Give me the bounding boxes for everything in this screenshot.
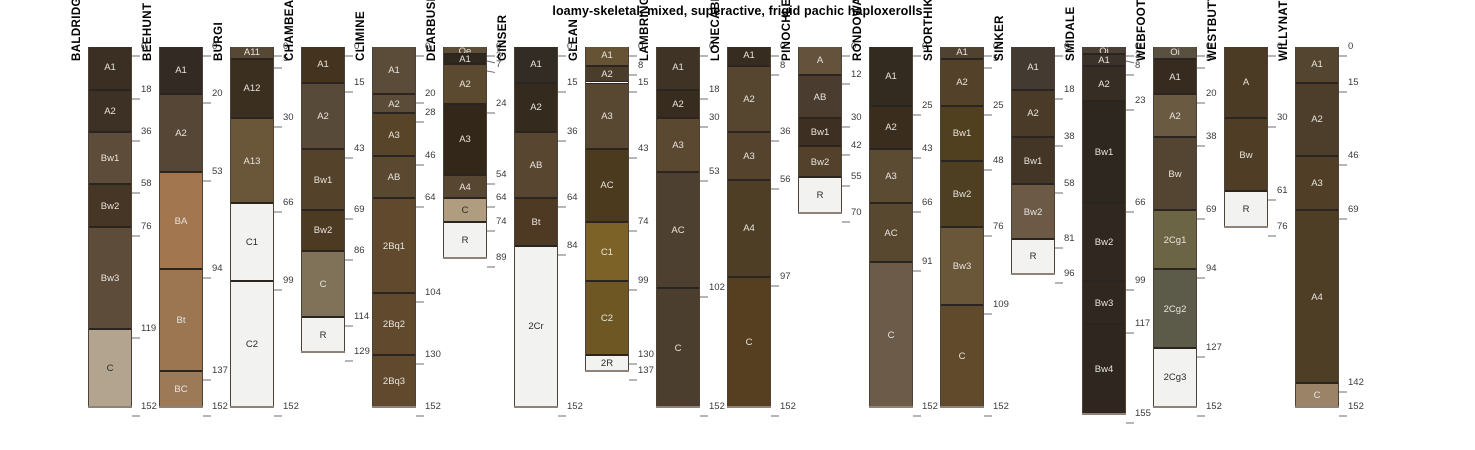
depth-tick-leader — [1055, 88, 1064, 92]
depth-tick-leader — [274, 116, 283, 120]
depth-tick-label: 102 — [709, 283, 725, 293]
profile-base-line — [514, 406, 558, 408]
depth-tick-leader — [1339, 208, 1348, 212]
soil-horizon: Bw2 — [1083, 203, 1125, 281]
depth-tick-label: 0 — [1348, 42, 1353, 52]
soil-horizon: A12 — [231, 59, 273, 118]
profile-base-line — [88, 406, 132, 408]
horizon-label: A1 — [444, 55, 486, 63]
soil-horizon: C1 — [586, 222, 628, 281]
depth-tick-leader — [629, 220, 638, 224]
depth-tick-leader — [132, 182, 141, 186]
horizon-label: A3 — [444, 135, 486, 145]
depth-tick-leader — [629, 353, 638, 357]
depth-tick-leader — [416, 405, 425, 409]
soil-horizon: Bw1 — [302, 149, 344, 211]
horizon-label: R — [302, 331, 344, 341]
horizon-label: A1 — [1012, 63, 1054, 73]
profile-name-label: SINKER — [994, 15, 1006, 61]
depth-tick-label: 25 — [993, 101, 1004, 111]
depth-tick-leader — [487, 256, 496, 260]
depth-tick-leader — [345, 315, 354, 319]
horizon-label: AB — [373, 173, 415, 183]
horizon-label: Bw2 — [1083, 238, 1125, 248]
horizon-label: A1 — [941, 48, 983, 58]
depth-tick-leader — [629, 279, 638, 283]
depth-tick-label: 89 — [496, 253, 507, 263]
depth-tick-leader — [558, 45, 567, 49]
soil-horizon: A3 — [657, 118, 699, 172]
depth-tick-leader — [1126, 322, 1135, 326]
profile-name-label: GINSER — [497, 15, 509, 62]
soil-horizon: Oi — [1154, 47, 1196, 59]
depth-tick-leader — [629, 369, 638, 373]
soil-horizon: A4 — [1296, 210, 1338, 383]
horizon-label: 2Bq3 — [373, 377, 415, 387]
profile-name-label: LAMBRING — [639, 0, 651, 61]
profile-base-line — [798, 212, 842, 214]
depth-tick-leader — [274, 405, 283, 409]
depth-tick-leader — [345, 81, 354, 85]
depth-tick-label: 25 — [922, 101, 933, 111]
depth-tick-label: 91 — [922, 257, 933, 267]
soil-horizon: A2 — [657, 90, 699, 118]
soil-horizon: A2 — [373, 94, 415, 113]
horizon-label: AC — [586, 181, 628, 191]
depth-tick-leader — [487, 52, 496, 58]
depth-tick-leader — [1055, 45, 1064, 49]
depth-tick-label: 76 — [993, 222, 1004, 232]
profile-base-line — [1153, 406, 1197, 408]
depth-tick-leader — [132, 327, 141, 331]
soil-horizon: Bw4 — [1083, 324, 1125, 414]
soil-horizon: A1 — [1296, 47, 1338, 83]
horizon-label: Bw3 — [941, 262, 983, 272]
depth-tick-leader — [1268, 116, 1277, 120]
depth-tick-leader — [1055, 182, 1064, 186]
depth-tick-leader — [1126, 64, 1135, 68]
soil-horizon: A1 — [515, 47, 557, 83]
depth-tick-label: 99 — [1135, 276, 1146, 286]
soil-horizon: A2 — [941, 59, 983, 106]
horizon-label: A3 — [373, 131, 415, 141]
depth-tick-leader — [913, 45, 922, 49]
soil-horizon: A1 — [1083, 54, 1125, 66]
depth-tick-leader — [558, 244, 567, 248]
profile-column: A1A2Bw1Bw2Bw3C — [940, 47, 984, 407]
soil-horizon: R — [799, 177, 841, 213]
horizon-label: C — [89, 364, 131, 374]
horizon-label: A3 — [586, 112, 628, 122]
soil-horizon: A1 — [1012, 47, 1054, 90]
depth-tick-leader — [274, 57, 283, 61]
horizon-label: A1 — [89, 63, 131, 73]
depth-tick-leader — [345, 350, 354, 354]
soil-horizon: Oi — [1083, 47, 1125, 54]
profile-column: A1A2BABtBC — [159, 47, 203, 407]
depth-tick-leader — [345, 249, 354, 253]
profile-name-label: LONECABIN — [710, 0, 722, 61]
soil-horizon: BA — [160, 172, 202, 269]
soil-horizon: Bw1 — [1083, 101, 1125, 203]
depth-tick-leader — [487, 62, 496, 67]
horizon-label: R — [444, 236, 486, 246]
depth-tick-label: 130 — [425, 350, 441, 360]
horizon-label: A1 — [373, 66, 415, 76]
depth-tick-label: 30 — [851, 113, 862, 123]
depth-tick-label: 152 — [212, 402, 228, 412]
depth-tick-leader — [700, 170, 709, 174]
profile-base-line — [869, 406, 913, 408]
depth-tick-label: 36 — [780, 127, 791, 137]
depth-tick-label: 36 — [141, 127, 152, 137]
depth-tick-label: 38 — [1206, 132, 1217, 142]
depth-tick-label: 69 — [354, 205, 365, 215]
soil-horizon: C2 — [231, 281, 273, 406]
depth-tick-label: 152 — [993, 402, 1009, 412]
depth-tick-label: 7 — [496, 60, 501, 70]
horizon-label: 2Cg1 — [1154, 236, 1196, 246]
horizon-label: C1 — [231, 238, 273, 248]
soil-horizon: C — [657, 288, 699, 406]
horizon-label: A4 — [1296, 293, 1338, 303]
horizon-label: A1 — [302, 60, 344, 70]
horizon-label: A3 — [657, 141, 699, 151]
horizon-label: A2 — [728, 95, 770, 105]
soil-horizon: A1 — [444, 54, 486, 63]
soil-horizon: A2 — [728, 66, 770, 132]
depth-tick-leader — [1055, 237, 1064, 241]
depth-tick-leader — [416, 291, 425, 295]
depth-tick-leader — [913, 104, 922, 108]
soil-horizon: C — [89, 329, 131, 407]
horizon-label: Bw2 — [1012, 208, 1054, 218]
depth-tick-label: 127 — [1206, 343, 1222, 353]
horizon-label: C — [444, 206, 486, 216]
depth-tick-label: 28 — [425, 108, 436, 118]
depth-tick-label: 152 — [283, 402, 299, 412]
horizon-label: A2 — [302, 112, 344, 122]
soil-horizon: Bt — [160, 269, 202, 371]
depth-tick-leader — [771, 45, 780, 49]
depth-tick-leader — [1126, 412, 1135, 416]
depth-tick-leader — [132, 45, 141, 49]
depth-tick-leader — [842, 144, 851, 148]
horizon-label: Bw1 — [302, 176, 344, 186]
profile-base-line — [1224, 226, 1268, 228]
profile-base-line — [1082, 413, 1126, 415]
depth-tick-label: 142 — [1348, 378, 1364, 388]
depth-tick-label: 64 — [425, 193, 436, 203]
depth-tick-label: 58 — [141, 179, 152, 189]
soil-horizon: A3 — [373, 113, 415, 156]
depth-tick-label: 81 — [1064, 234, 1075, 244]
horizon-label: A2 — [1012, 109, 1054, 119]
soil-horizon: 2Cg1 — [1154, 210, 1196, 269]
depth-tick-label: 152 — [709, 402, 725, 412]
profile-column: A1A2Bw1Bw2Bw3C — [88, 47, 132, 407]
depth-tick-leader — [1197, 57, 1206, 61]
depth-tick-leader — [558, 196, 567, 200]
profile-column: OiA1A2Bw2Cg12Cg22Cg3 — [1153, 47, 1197, 407]
depth-tick-label: 66 — [922, 198, 933, 208]
profile-column: A1A2Bw1Bw2CR — [301, 47, 345, 352]
soil-horizon: Bt — [515, 198, 557, 245]
horizon-label: A1 — [657, 63, 699, 73]
horizon-label: R — [1012, 252, 1054, 262]
depth-tick-leader — [1055, 272, 1064, 276]
soil-horizon: A3 — [728, 132, 770, 179]
depth-tick-leader — [1197, 405, 1206, 409]
depth-tick-leader — [1339, 45, 1348, 49]
depth-tick-label: 64 — [496, 193, 507, 203]
depth-tick-leader — [203, 369, 212, 373]
horizon-label: Bw2 — [89, 202, 131, 212]
depth-tick-leader — [1126, 52, 1135, 58]
depth-tick-leader — [416, 45, 425, 49]
depth-tick-leader — [771, 64, 780, 68]
depth-tick-label: 114 — [354, 312, 369, 322]
soil-horizon: 2Bq2 — [373, 293, 415, 355]
depth-tick-label: 42 — [851, 141, 862, 151]
profile-column: OiA1A2Bw1Bw2Bw3Bw4 — [1082, 47, 1126, 414]
horizon-label: Oe — [444, 47, 486, 54]
profile-column: A1A2A3A4C — [727, 47, 771, 407]
depth-tick-leader — [274, 279, 283, 283]
depth-tick-label: 18 — [1064, 85, 1075, 95]
depth-tick-leader — [1126, 201, 1135, 205]
soil-horizon: A4 — [728, 180, 770, 277]
profile-column: A1A2A3AB2Bq12Bq22Bq3 — [372, 47, 416, 407]
depth-tick-label: 8 — [1135, 61, 1140, 71]
soil-horizon: Bw1 — [799, 118, 841, 146]
soil-horizon: C2 — [586, 281, 628, 354]
soil-horizon: Oe — [444, 47, 486, 54]
horizon-label: A11 — [231, 48, 273, 58]
soil-horizon: A1 — [302, 47, 344, 83]
depth-tick-label: 97 — [780, 272, 791, 282]
depth-tick-label: 76 — [141, 222, 152, 232]
soil-horizon: C — [1296, 383, 1338, 407]
profile-base-line — [585, 370, 629, 372]
soil-horizon: A2 — [515, 83, 557, 133]
depth-tick-leader — [771, 178, 780, 182]
depth-tick-label: 15 — [638, 78, 649, 88]
soil-horizon: A1 — [373, 47, 415, 94]
depth-tick-label: 30 — [283, 113, 294, 123]
depth-tick-leader — [842, 116, 851, 120]
depth-tick-leader — [132, 405, 141, 409]
soil-horizon: R — [302, 317, 344, 353]
depth-tick-leader — [132, 225, 141, 229]
profile-base-line — [656, 406, 700, 408]
horizon-label: C — [1296, 391, 1338, 401]
depth-tick-label: 137 — [212, 366, 228, 376]
soil-horizon: Bw1 — [941, 106, 983, 160]
depth-tick-leader — [416, 353, 425, 357]
depth-tick-label: 18 — [141, 85, 152, 95]
depth-tick-leader — [274, 201, 283, 205]
profile-base-line — [940, 406, 984, 408]
horizon-label: 2Cr — [515, 322, 557, 332]
depth-tick-leader — [487, 102, 496, 106]
depth-tick-leader — [629, 45, 638, 49]
depth-tick-leader — [558, 405, 567, 409]
soil-horizon: A1 — [160, 47, 202, 94]
horizon-label: A1 — [870, 72, 912, 82]
soil-horizon: AC — [586, 149, 628, 222]
depth-tick-label: 61 — [1277, 186, 1288, 196]
soil-horizon: AB — [373, 156, 415, 199]
profile-column: ABwR — [1224, 47, 1268, 227]
horizon-label: A12 — [231, 84, 273, 94]
depth-tick-label: 43 — [638, 144, 649, 154]
depth-tick-label: 64 — [567, 193, 578, 203]
horizon-label: A2 — [1083, 80, 1125, 90]
depth-tick-leader — [487, 196, 496, 200]
depth-tick-leader — [1126, 99, 1135, 103]
soil-horizon: Bw — [1225, 118, 1267, 191]
depth-tick-label: 66 — [283, 198, 294, 208]
horizon-label: A2 — [1154, 112, 1196, 122]
profile-name-label: GLEAN — [568, 19, 580, 61]
soil-horizon: C1 — [231, 203, 273, 281]
depth-tick-label: 23 — [1135, 96, 1146, 106]
depth-tick-leader — [274, 45, 283, 49]
depth-tick-label: 129 — [354, 347, 370, 357]
depth-tick-leader — [913, 201, 922, 205]
profile-name-label: BEEHUNT — [142, 3, 154, 61]
depth-tick-leader — [984, 159, 993, 163]
depth-tick-leader — [984, 303, 993, 307]
horizon-label: Bw1 — [1083, 148, 1125, 158]
depth-tick-label: 15 — [567, 78, 578, 88]
horizon-label: Oi — [1083, 47, 1125, 54]
horizon-label: Bw4 — [1083, 365, 1125, 375]
soil-horizon: A — [799, 47, 841, 75]
horizon-label: AB — [799, 93, 841, 103]
depth-tick-leader — [1339, 381, 1348, 385]
soil-horizon: A3 — [586, 83, 628, 149]
profile-name-label: BALDRIDGE — [71, 0, 83, 61]
horizon-label: A2 — [160, 129, 202, 139]
depth-tick-label: 96 — [1064, 269, 1075, 279]
soil-horizon: Bw2 — [799, 146, 841, 177]
depth-tick-leader — [132, 88, 141, 92]
soil-horizon: A2 — [870, 106, 912, 149]
horizon-label: Bw1 — [1012, 157, 1054, 167]
depth-tick-leader — [913, 147, 922, 151]
depth-tick-label: 94 — [1206, 264, 1217, 274]
soil-horizon: 2Bq3 — [373, 355, 415, 407]
soil-horizon: Bw1 — [89, 132, 131, 184]
depth-tick-label: 46 — [425, 151, 436, 161]
depth-tick-leader — [345, 147, 354, 151]
depth-tick-leader — [629, 147, 638, 151]
soil-horizon: 2Cr — [515, 246, 557, 407]
depth-tick-leader — [984, 104, 993, 108]
profile-name-label: SHORTHIKE — [923, 0, 935, 61]
soil-horizon: A11 — [231, 47, 273, 59]
depth-tick-label: 8 — [780, 61, 785, 71]
soil-horizon: Bw — [1154, 137, 1196, 210]
depth-tick-leader — [558, 130, 567, 134]
soil-horizon: A2 — [1083, 66, 1125, 102]
horizon-label: Bw3 — [1083, 299, 1125, 309]
depth-tick-label: 36 — [567, 127, 578, 137]
depth-tick-label: 30 — [709, 113, 720, 123]
profile-name-label: BURGI — [213, 22, 225, 61]
depth-tick-label: 152 — [141, 402, 157, 412]
depth-tick-leader — [1126, 45, 1135, 49]
depth-tick-label: 46 — [1348, 151, 1359, 161]
depth-tick-leader — [203, 267, 212, 271]
horizon-label: A2 — [870, 123, 912, 133]
soil-horizon: 2Bq1 — [373, 198, 415, 293]
depth-tick-leader — [487, 45, 496, 49]
soil-horizon: AC — [657, 172, 699, 288]
soil-horizon: Bw3 — [1083, 281, 1125, 324]
depth-tick-leader — [1197, 208, 1206, 212]
soil-horizon: C — [444, 198, 486, 222]
depth-tick-leader — [203, 92, 212, 96]
profile-name-label: SMIDALE — [1065, 6, 1077, 61]
profile-base-line — [159, 406, 203, 408]
horizon-label: Bw2 — [302, 226, 344, 236]
profile-column: A1A2A3A4C — [1295, 47, 1339, 407]
depth-tick-label: 18 — [709, 85, 720, 95]
soil-horizon: C — [870, 262, 912, 406]
horizon-label: C1 — [586, 248, 628, 258]
profile-name-label: PINOCHLE — [781, 0, 793, 61]
soil-horizon: A2 — [586, 66, 628, 83]
horizon-label: BC — [160, 385, 202, 395]
soil-horizon: AB — [515, 132, 557, 198]
depth-tick-leader — [629, 81, 638, 85]
depth-tick-leader — [984, 57, 993, 61]
soil-horizon: A2 — [89, 90, 131, 133]
profile-name-label: WESTBUTTE — [1207, 0, 1219, 61]
depth-tick-label: 137 — [638, 366, 654, 376]
horizon-label: A2 — [444, 80, 486, 90]
horizon-label: Bt — [160, 316, 202, 326]
soil-horizon: R — [1225, 191, 1267, 227]
depth-tick-label: 76 — [1277, 222, 1288, 232]
horizon-label: Bw1 — [89, 154, 131, 164]
depth-tick-label: 152 — [1206, 402, 1222, 412]
depth-tick-leader — [1126, 279, 1135, 283]
soil-horizon: A1 — [586, 47, 628, 66]
depth-tick-leader — [984, 225, 993, 229]
soil-horizon: A1 — [89, 47, 131, 90]
soil-horizon: Bw2 — [941, 161, 983, 227]
horizon-label: A — [1225, 78, 1267, 88]
soil-horizon: BC — [160, 371, 202, 407]
horizon-label: A2 — [89, 107, 131, 117]
depth-tick-leader — [842, 211, 851, 215]
depth-tick-label: 69 — [1206, 205, 1217, 215]
soil-horizon: Bw2 — [1012, 184, 1054, 238]
profile-base-line — [443, 257, 487, 259]
depth-tick-leader — [771, 405, 780, 409]
soil-horizon: A2 — [444, 64, 486, 104]
soil-horizon: Bw2 — [302, 210, 344, 250]
soil-horizon: R — [1012, 239, 1054, 275]
profile-column: OeA1A2A3A4CR — [443, 47, 487, 258]
depth-tick-label: 30 — [1277, 113, 1288, 123]
depth-tick-label: 104 — [425, 288, 441, 298]
horizon-label: C — [870, 331, 912, 341]
